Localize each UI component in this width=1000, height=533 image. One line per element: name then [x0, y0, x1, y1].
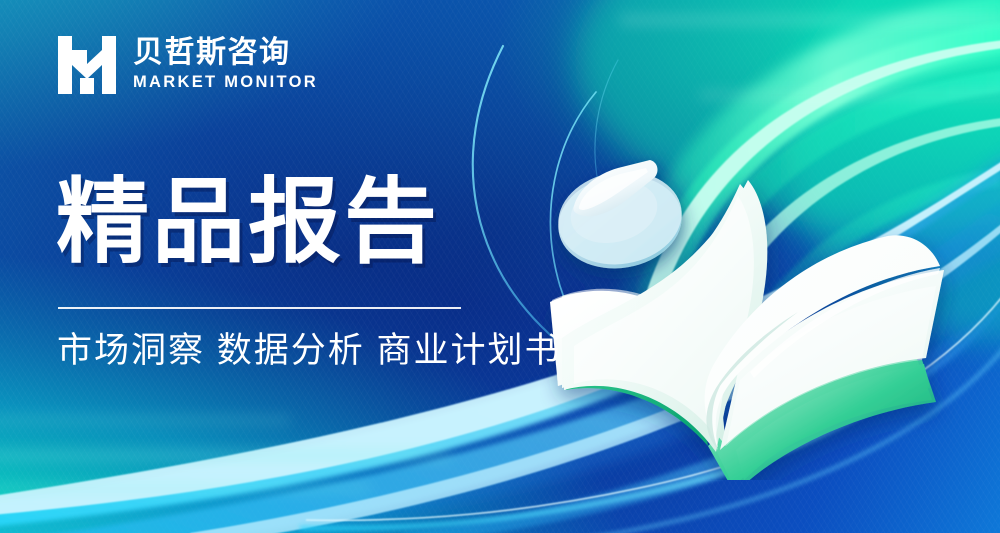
report-banner: 贝哲斯咨询 MARKET MONITOR 精品报告 市场洞察 数据分析 商业计划… [0, 0, 1000, 533]
brand-logo-text: 贝哲斯咨询 MARKET MONITOR [133, 37, 318, 93]
page-title: 精品报告 [56, 172, 440, 272]
brand-name-en: MARKET MONITOR [133, 72, 318, 93]
page-subtitle: 市场洞察 数据分析 商业计划书 [57, 327, 561, 374]
brand-name-cn: 贝哲斯咨询 [133, 37, 318, 69]
open-book-illustration [540, 150, 960, 480]
market-monitor-m-mark-icon [56, 34, 118, 96]
title-divider [58, 307, 461, 309]
brand-logo: 贝哲斯咨询 MARKET MONITOR [56, 34, 318, 96]
